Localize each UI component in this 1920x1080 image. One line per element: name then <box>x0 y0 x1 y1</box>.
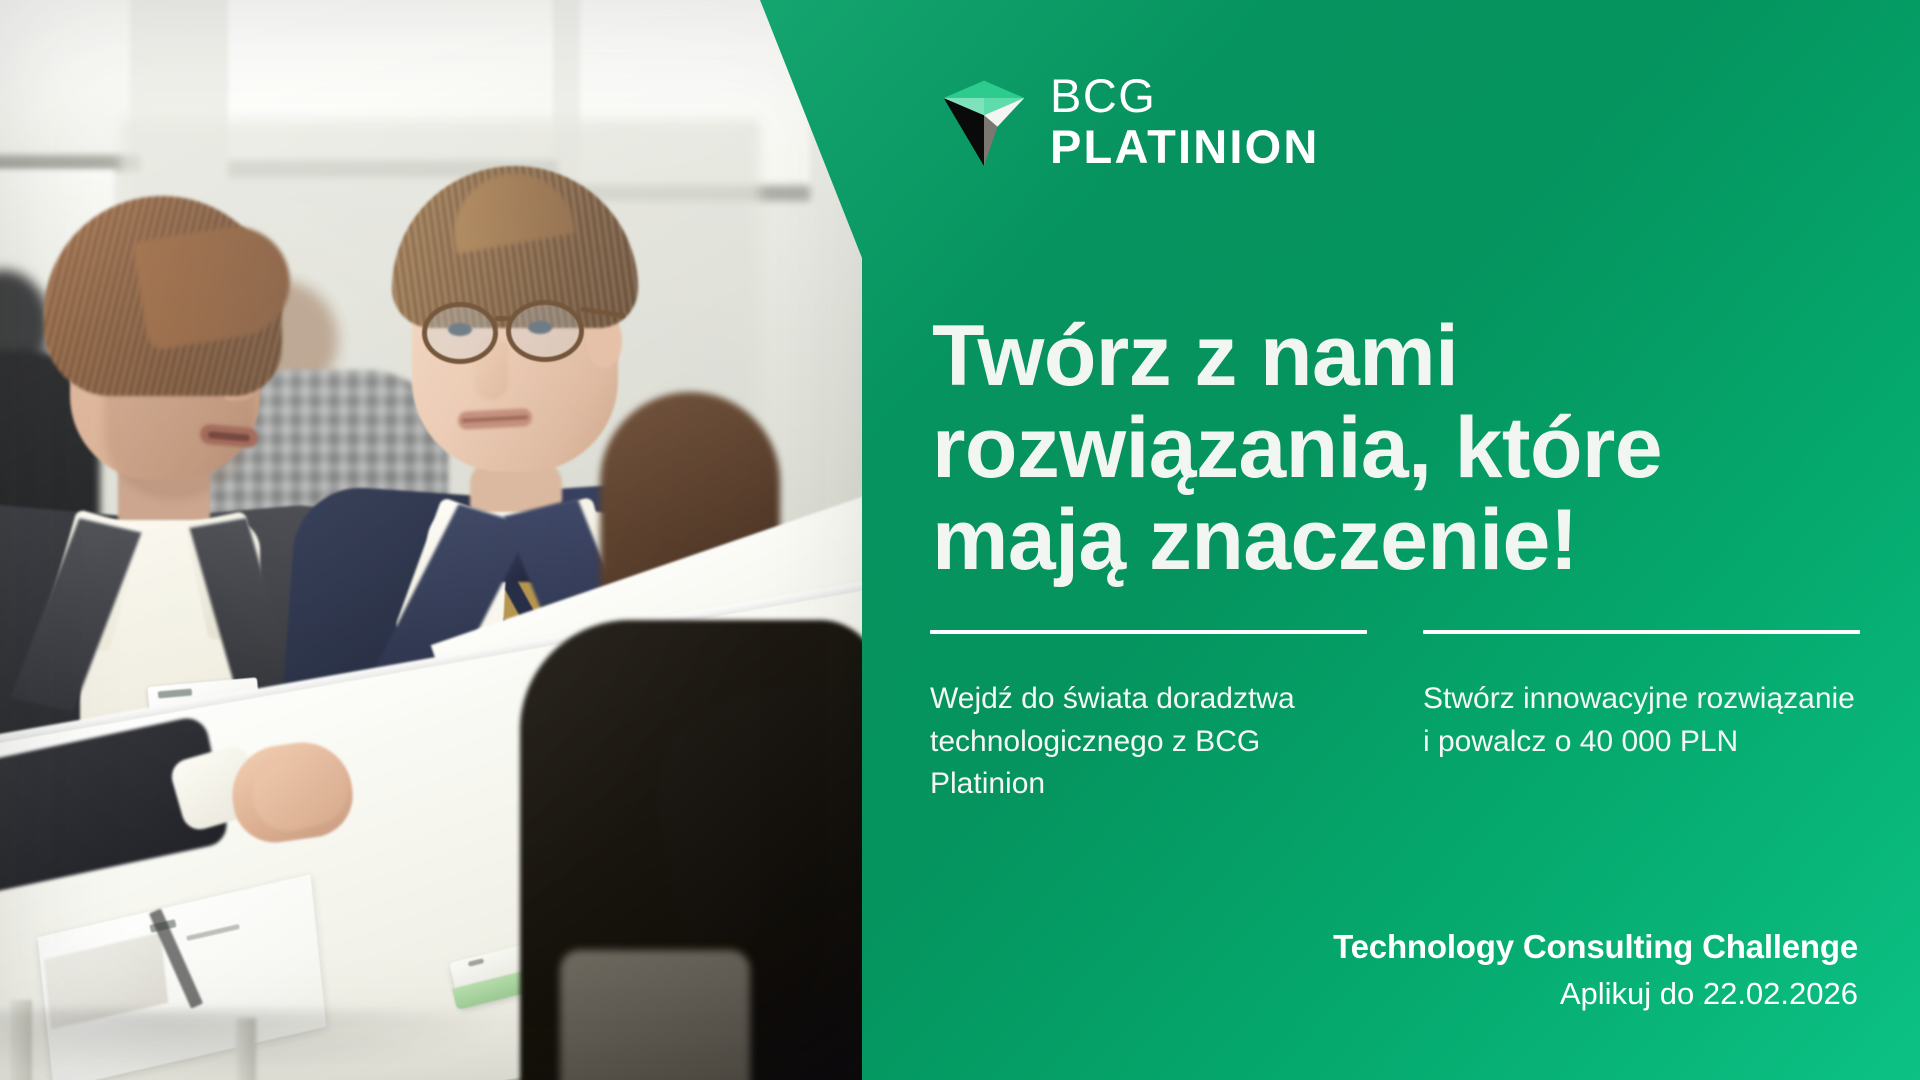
headline-line-1: Twórz z nami <box>932 308 1458 404</box>
eyeglasses-lens-left <box>422 302 498 364</box>
poster-canvas: BCG PLATINION Twórz z nami rozwiązania, … <box>0 0 1920 1080</box>
benefit-text-right: Stwórz innowacyjne rozwiązanie i powalcz… <box>1423 678 1860 763</box>
headline-line-3: mają znaczenie! <box>932 492 1578 588</box>
headline: Twórz z nami rozwiązania, które mają zna… <box>932 310 1852 586</box>
brand-name-bottom: PLATINION <box>1050 123 1320 170</box>
benefit-columns: Wejdź do świata doradztwa technologiczne… <box>930 630 1860 836</box>
benefit-column-left: Wejdź do świata doradztwa technologiczne… <box>930 630 1367 836</box>
footer-block: Technology Consulting Challenge Aplikuj … <box>1333 928 1858 1012</box>
foreground-person-leg <box>560 950 750 1080</box>
window-pane-upper-left <box>0 0 130 170</box>
benefit-text-left: Wejdź do świata doradztwa technologiczne… <box>930 678 1367 806</box>
eyeglasses-lens-right <box>506 300 584 362</box>
application-deadline: Aplikuj do 22.02.2026 <box>1333 976 1858 1012</box>
eyeglasses-bridge <box>495 316 511 321</box>
program-name: Technology Consulting Challenge <box>1333 928 1858 966</box>
brand-logo[interactable]: BCG PLATINION <box>936 72 1320 170</box>
headline-line-2: rozwiązania, które <box>932 400 1662 496</box>
brand-wordmark: BCG PLATINION <box>1050 72 1320 170</box>
window-frame-left <box>0 155 140 171</box>
bcg-platinion-pyramid-logo <box>936 73 1032 169</box>
table-floor-shadow <box>0 1010 500 1080</box>
divider-rule-right <box>1423 630 1860 634</box>
person-left <box>0 190 330 750</box>
brand-name-top: BCG <box>1050 72 1320 119</box>
divider-rule-left <box>930 630 1367 634</box>
event-photo <box>0 0 880 1080</box>
benefit-column-right: Stwórz innowacyjne rozwiązanie i powalcz… <box>1423 630 1860 836</box>
